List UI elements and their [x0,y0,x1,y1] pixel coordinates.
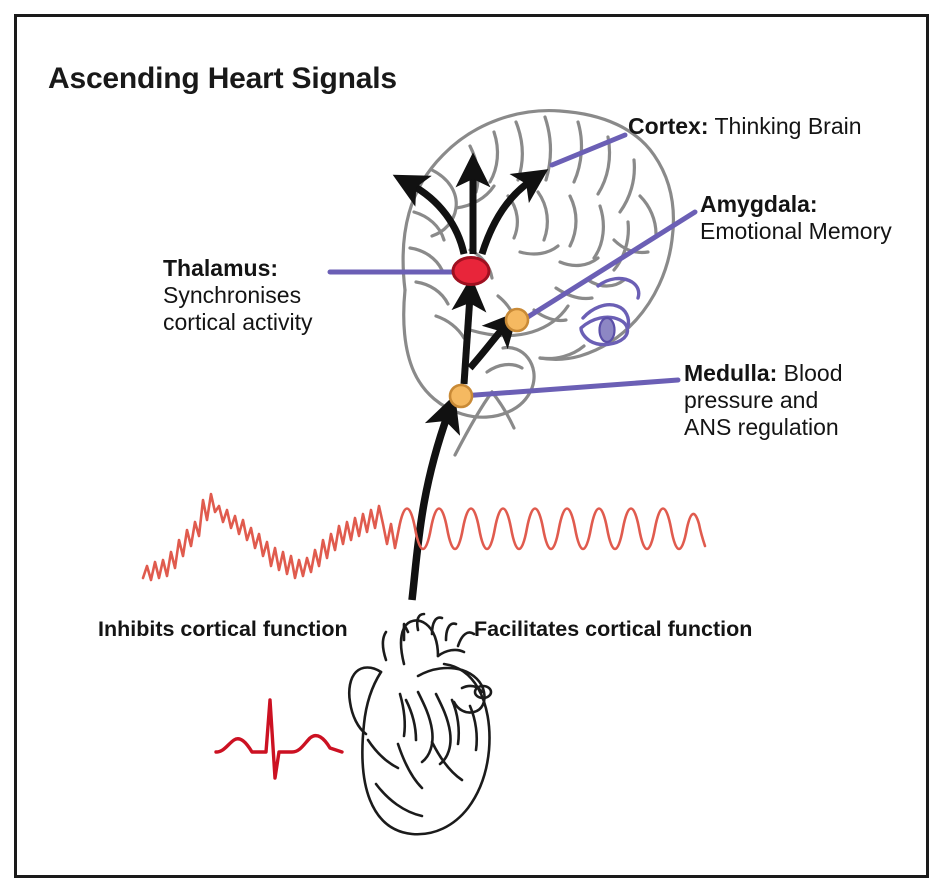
arrow-heart-to-medulla [412,414,448,600]
eye-icon [581,279,639,345]
label-inhibits-cortical-function: Inhibits cortical function [98,617,348,642]
label-cortex-description: Thinking Brain [709,113,862,139]
leader-line-cortex [552,135,625,165]
ecg-trace [216,700,342,778]
amygdala-marker [506,309,528,331]
label-thalamus-term: Thalamus: [163,255,393,282]
label-facilitates-cortical-function: Facilitates cortical function [474,617,752,642]
label-amygdala: Amygdala: Emotional Memory [700,191,940,245]
label-amygdala-term: Amygdala: [700,191,940,218]
label-thalamus: Thalamus: Synchronises cortical activity [163,255,393,336]
label-thalamus-description-line1: Synchronises [163,282,393,309]
label-medulla-description-line1: Blood [777,360,842,386]
heart-illustration [349,614,491,834]
label-thalamus-description-line2: cortical activity [163,309,393,336]
label-medulla-description-line3: ANS regulation [684,414,884,441]
label-amygdala-description: Emotional Memory [700,218,940,245]
figure-root: Ascending Heart Signals [0,0,945,894]
label-cortex-term: Cortex: [628,113,709,139]
label-medulla-term: Medulla: [684,360,777,386]
medulla-marker [450,385,472,407]
label-medulla-description-line2: pressure and [684,387,884,414]
thalamus-marker [453,258,489,285]
hrv-coherent-segment [399,509,705,550]
arrow-medulla-to-thalamus [464,296,470,384]
label-medulla: Medulla: Blood pressure and ANS regulati… [684,360,884,441]
label-cortex: Cortex: Thinking Brain [628,113,862,140]
hrv-incoherent-segment [143,494,399,580]
leader-line-medulla [462,380,678,396]
